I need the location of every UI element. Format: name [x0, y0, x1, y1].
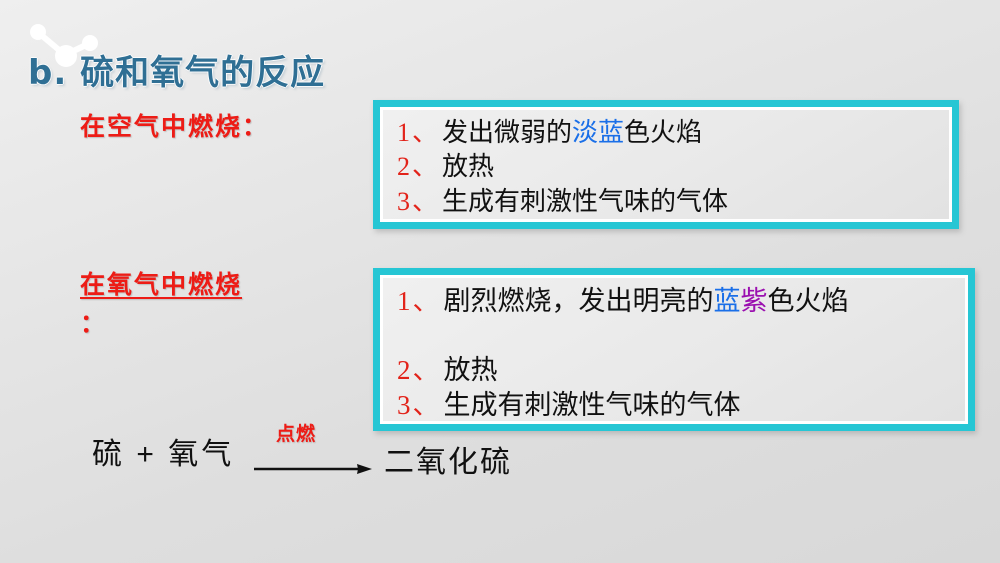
observation-item: 1、发出微弱的淡蓝色火焰 [397, 116, 939, 150]
observations-box-oxygen: 1、剧烈燃烧，发出明亮的蓝紫色火焰 2、放热 3、生成有刺激性气味的气体 [373, 268, 975, 431]
label-burning-in-air: 在空气中燃烧： [80, 107, 269, 143]
item-text-post: 色火焰 [768, 286, 849, 316]
equation-product: 二氧化硫 [384, 437, 512, 481]
item-text-pre: 放热 [442, 152, 494, 181]
equation-reactants: 硫 + 氧气 [92, 437, 242, 474]
observation-item: 2、放热 [397, 150, 939, 184]
item-number: 1 [397, 118, 410, 147]
equation-condition-label: 点燃 [276, 419, 316, 446]
title-lead: b. [28, 53, 67, 93]
item-text-pre: 生成有刺激性气味的气体 [444, 390, 741, 420]
label-burning-in-oxygen-text: 在氧气中燃烧 [80, 270, 242, 299]
item-separator: 、 [410, 187, 442, 216]
item-separator: 、 [410, 118, 442, 147]
item-separator: 、 [411, 390, 444, 420]
item-text-highlight: 淡蓝 [572, 118, 624, 147]
observation-item: 2、放热 [397, 353, 955, 388]
page-title: b. 硫和氧气的反应 [28, 45, 325, 94]
observations-box-air: 1、发出微弱的淡蓝色火焰 2、放热 3、生成有刺激性气味的气体 [373, 100, 959, 229]
observation-item: 1、剧烈燃烧，发出明亮的蓝紫色火焰 [397, 284, 955, 319]
equation-arrow-group: 点燃 [254, 437, 379, 483]
title-text: 硫和氧气的反应 [80, 53, 325, 93]
label-burning-in-oxygen-colon: ： [80, 309, 107, 338]
item-number: 3 [397, 390, 411, 420]
item-text-highlight-purple: 紫 [741, 286, 768, 316]
item-separator: 、 [411, 286, 444, 316]
item-text-pre: 放热 [444, 355, 498, 385]
observations-box-air-inner: 1、发出微弱的淡蓝色火焰 2、放热 3、生成有刺激性气味的气体 [380, 107, 952, 222]
item-text-pre: 生成有刺激性气味的气体 [442, 187, 728, 216]
item-text-highlight-blue: 蓝 [714, 286, 741, 316]
item-number: 3 [397, 187, 410, 216]
observation-item: 3、生成有刺激性气味的气体 [397, 185, 939, 219]
chemical-equation: 硫 + 氧气 点燃 二氧化硫 [92, 437, 522, 537]
observations-box-oxygen-inner: 1、剧烈燃烧，发出明亮的蓝紫色火焰 2、放热 3、生成有刺激性气味的气体 [380, 275, 968, 424]
item-text-pre: 发出微弱的 [442, 118, 572, 147]
slide-canvas: b. 硫和氧气的反应 在空气中燃烧： 在氧气中燃烧 ： 1、发出微弱的淡蓝色火焰… [0, 0, 1000, 563]
item-number: 1 [397, 286, 411, 316]
item-separator: 、 [410, 152, 442, 181]
item-separator: 、 [411, 355, 444, 385]
blank-line [397, 319, 955, 353]
item-number: 2 [397, 355, 411, 385]
item-number: 2 [397, 152, 410, 181]
label-burning-in-oxygen: 在氧气中燃烧 ： [80, 266, 330, 344]
observation-item: 3、生成有刺激性气味的气体 [397, 388, 955, 423]
item-text-post: 色火焰 [624, 118, 702, 147]
arrow-right-icon [254, 463, 372, 475]
item-text-pre: 剧烈燃烧，发出明亮的 [444, 286, 714, 316]
